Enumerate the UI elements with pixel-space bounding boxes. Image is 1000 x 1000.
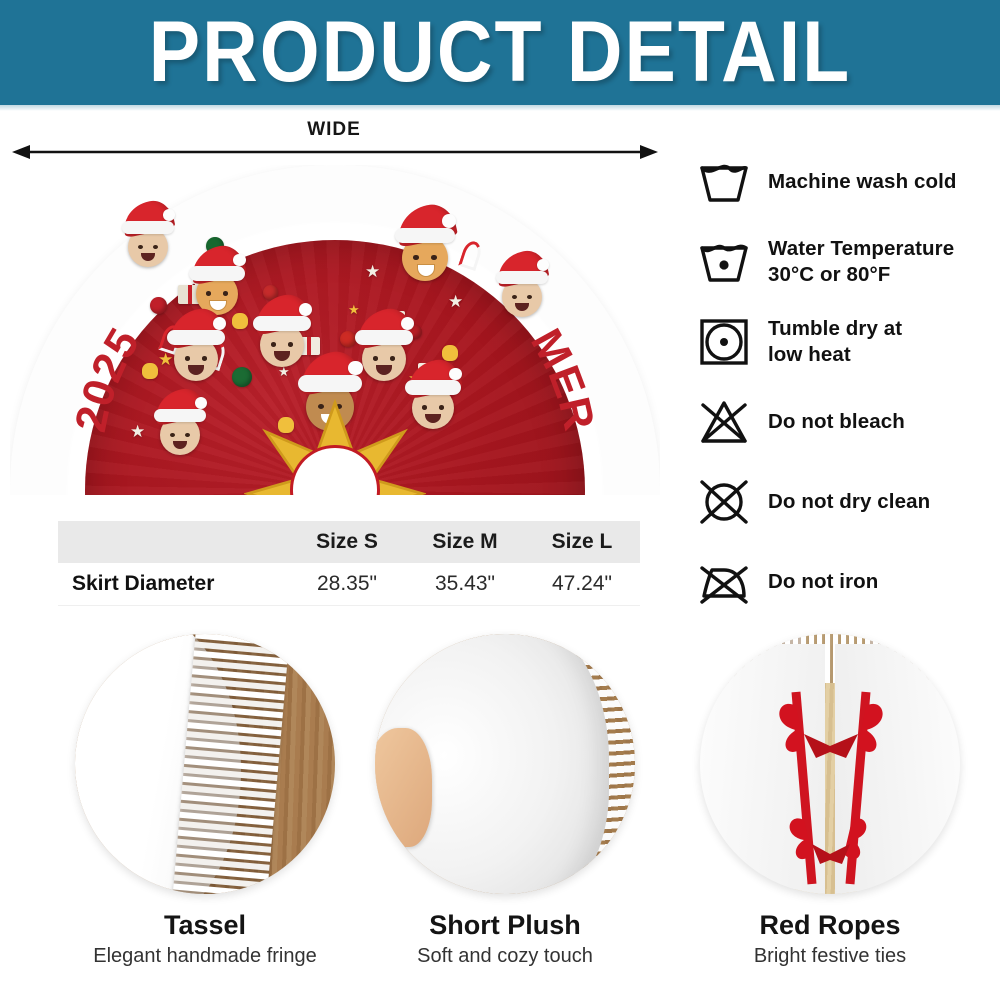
care-row-do-not-dry-clean: Do not dry clean <box>696 462 996 542</box>
table-header-size-m: Size M <box>406 521 524 563</box>
red-ropes-closeup-image <box>700 634 960 894</box>
care-row-water-temperature: Water Temperature 30°C or 80°F <box>696 222 996 302</box>
feature-subtitle: Elegant handmade fringe <box>75 945 335 968</box>
care-label: Tumble dry at low heat <box>768 316 902 368</box>
care-label: Do not dry clean <box>768 489 930 515</box>
care-label-line1: Tumble dry at <box>768 316 902 342</box>
cell-size-l: 47.24" <box>524 563 640 606</box>
table-row: Skirt Diameter 28.35" 35.43" 47.24" <box>58 563 640 606</box>
header-banner: PRODUCT DETAIL <box>0 0 1000 105</box>
care-label-line2: 30°C or 80°F <box>768 262 954 288</box>
care-label-line2: low heat <box>768 342 902 368</box>
care-label: Water Temperature 30°C or 80°F <box>768 236 954 288</box>
water-temperature-icon <box>696 236 752 288</box>
care-row-do-not-bleach: Do not bleach <box>696 382 996 462</box>
size-table: Size S Size M Size L Skirt Diameter 28.3… <box>58 521 640 606</box>
care-label: Do not bleach <box>768 409 905 435</box>
tassel-closeup-image <box>75 634 335 894</box>
feature-red-ropes: Red Ropes Bright festive ties <box>700 634 960 968</box>
tumble-dry-low-icon <box>696 316 752 368</box>
feature-subtitle: Bright festive ties <box>700 945 960 968</box>
skirt-curved-text: MERRY CHRISTMAS 2025 2025 MER <box>10 165 660 495</box>
feature-highlights: Tassel Elegant handmade fringe Short Plu… <box>0 634 1000 1000</box>
table-header-size-l: Size L <box>524 521 640 563</box>
care-row-do-not-iron: Do not iron <box>696 542 996 622</box>
table-header-blank <box>58 521 288 563</box>
tree-skirt-disc: ★ ★ ★ ★ ★ ★ ★ ★ ★ ★ <box>10 165 660 495</box>
hand-thumb <box>375 728 432 848</box>
machine-wash-cold-icon <box>696 156 752 208</box>
care-label: Machine wash cold <box>768 169 957 195</box>
care-row-machine-wash: Machine wash cold <box>696 142 996 222</box>
svg-text:2025: 2025 <box>66 320 149 436</box>
do-not-bleach-icon <box>696 396 752 448</box>
wide-dimension-label: WIDE <box>0 119 668 141</box>
svg-text:MER: MER <box>521 321 604 436</box>
care-instructions-list: Machine wash cold Water Temperature 30°C… <box>696 142 996 622</box>
feature-subtitle: Soft and cozy touch <box>375 945 635 968</box>
row-label-skirt-diameter: Skirt Diameter <box>58 563 288 606</box>
feature-short-plush: Short Plush Soft and cozy touch <box>375 634 635 968</box>
table-header-row: Size S Size M Size L <box>58 521 640 563</box>
feature-title: Short Plush <box>375 910 635 941</box>
tree-skirt-image: ★ ★ ★ ★ ★ ★ ★ ★ ★ ★ <box>10 165 660 495</box>
feature-title: Tassel <box>75 910 335 941</box>
feature-tassel: Tassel Elegant handmade fringe <box>75 634 335 968</box>
do-not-iron-icon <box>696 556 752 608</box>
feature-title: Red Ropes <box>700 910 960 941</box>
care-label-line1: Water Temperature <box>768 236 954 262</box>
care-row-tumble-dry: Tumble dry at low heat <box>696 302 996 382</box>
red-ribbon-ties <box>700 634 960 894</box>
plush-closeup-image <box>375 634 635 894</box>
cell-size-s: 28.35" <box>288 563 406 606</box>
wide-dimension-arrow-icon <box>12 142 658 162</box>
care-label: Do not iron <box>768 569 878 595</box>
banner-shadow <box>0 105 1000 111</box>
page-title: PRODUCT DETAIL <box>149 9 851 95</box>
do-not-dry-clean-icon <box>696 476 752 528</box>
cell-size-m: 35.43" <box>406 563 524 606</box>
merry-text-right: MER <box>521 321 604 436</box>
year-text-left: 2025 <box>66 320 149 436</box>
table-header-size-s: Size S <box>288 521 406 563</box>
